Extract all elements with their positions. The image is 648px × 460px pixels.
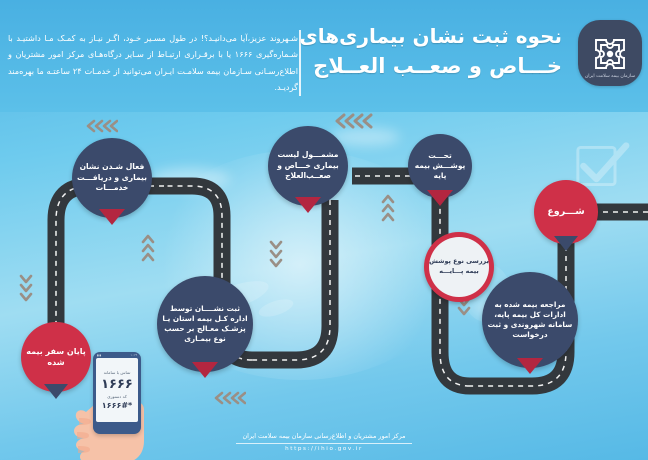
decision-sign-face: بررسی نوع پوشش بیمه پـــایـــه xyxy=(429,237,489,297)
flow-node-apply-label: مراجعه بیمه شده به ادارات کل بیمه پایه، … xyxy=(482,300,578,340)
flow-node-register-tail xyxy=(192,362,218,378)
decision-sign-coverage-type[interactable]: بررسی نوع پوشش بیمه پـــایـــه xyxy=(424,232,494,302)
flow-node-register-label: ثبت نشــــان توسط اداره کـل بیمه استان ی… xyxy=(157,304,253,344)
chevron-down-icon xyxy=(18,272,34,306)
flow-node-covered-tail xyxy=(427,190,453,206)
footer-url[interactable]: https://ihio.gov.ir xyxy=(0,446,648,452)
phone-status-bar: ۱۰:۲۴ ▮▮▮ xyxy=(97,354,137,358)
flow-node-start-label: شـــروع xyxy=(542,205,589,218)
flow-node-listed-bubble[interactable]: مشمـــول لیست بیماری خـــاص و صعــب‌العل… xyxy=(268,126,348,206)
footer-organization: مرکز امور مشتریان و اطلاع‌رسانی سازمان ب… xyxy=(0,432,648,440)
flow-node-covered-label: تحـــت پوشـــش بیمه پایه xyxy=(408,151,472,182)
phone-code-label: کد دستوری xyxy=(107,394,127,399)
footer-divider xyxy=(236,443,412,444)
chevron-up-icon xyxy=(380,192,396,226)
phone-screen: تماس با سامانه ۱۶۶۶ کد دستوری *۱۶۶۶# xyxy=(96,358,138,422)
flow-node-apply-bubble[interactable]: مراجعه بیمه شده به ادارات کل بیمه پایه، … xyxy=(482,272,578,368)
flow-node-activate-bubble[interactable]: فعال شـدن نشان بیماری و دریافـــت خدمـــ… xyxy=(72,138,152,218)
flow-node-register-bubble[interactable]: ثبت نشــــان توسط اداره کـل بیمه استان ی… xyxy=(157,276,253,372)
decision-sign-label: بررسی نوع پوشش بیمه پـــایـــه xyxy=(429,257,489,277)
road-segment-mid xyxy=(252,200,330,360)
chevron-down-icon xyxy=(268,238,284,272)
phone-illustration: ۱۰:۲۴ ▮▮▮ تماس با سامانه ۱۶۶۶ کد دستوری … xyxy=(93,352,141,434)
phone-status-left: ۱۰:۲۴ xyxy=(131,354,137,358)
chevron-left-icon xyxy=(332,112,376,130)
flow-node-apply-tail xyxy=(517,358,543,374)
phone-number: ۱۶۶۶ xyxy=(101,377,133,392)
flow-node-covered-bubble[interactable]: تحـــت پوشـــش بیمه پایه xyxy=(408,134,472,198)
flow-node-activate-label: فعال شـدن نشان بیماری و دریافـــت خدمـــ… xyxy=(72,162,152,193)
flow-node-end-label: پایان سفر بیمه شده xyxy=(21,346,91,368)
chevron-left-icon xyxy=(212,390,246,406)
phone-ussd-code: *۱۶۶۶# xyxy=(102,401,132,410)
flow-node-listed-label: مشمـــول لیست بیماری خـــاص و صعــب‌العل… xyxy=(268,150,348,181)
chevron-left-icon xyxy=(84,118,118,134)
phone-call-label: تماس با سامانه xyxy=(104,370,131,375)
flow-node-listed-tail xyxy=(295,197,321,213)
flow-node-end-tail xyxy=(44,384,68,399)
flow-node-start-tail xyxy=(554,236,578,251)
flow-node-activate-tail xyxy=(99,209,125,225)
footer: مرکز امور مشتریان و اطلاع‌رسانی سازمان ب… xyxy=(0,432,648,452)
flow-node-start-bubble[interactable]: شـــروع xyxy=(534,180,598,244)
chevron-up-icon xyxy=(140,232,156,266)
phone-status-right: ▮▮▮ xyxy=(97,354,101,358)
infographic-canvas: شـهروند عزیز،آیا می‌دانیـد؟! در طول مسـی… xyxy=(0,0,648,460)
